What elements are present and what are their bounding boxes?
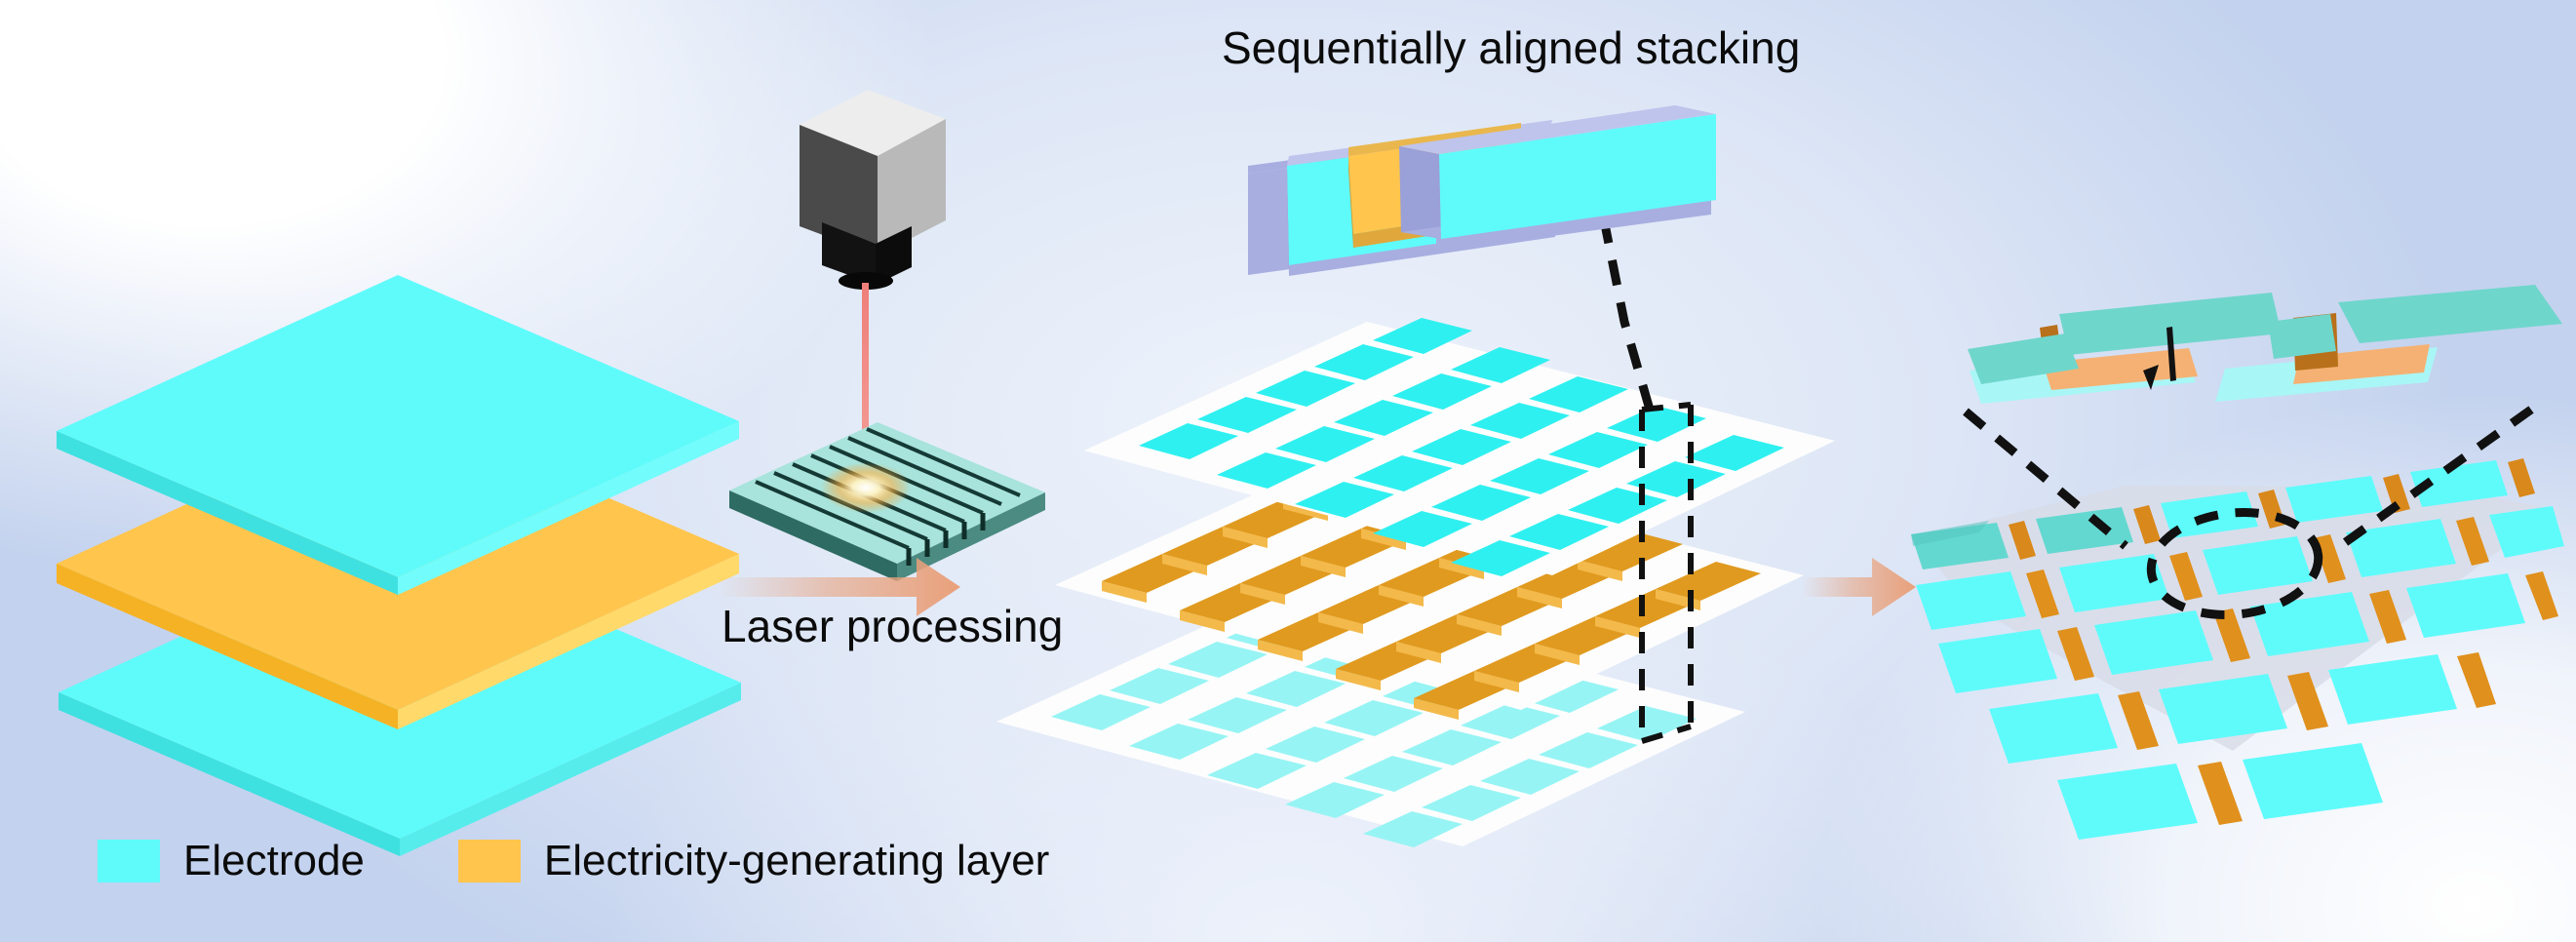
legend-label-generating-layer: Electricity-generating layer	[544, 837, 1049, 885]
process-arrow-2	[1802, 558, 1916, 616]
grooved-substrate	[729, 422, 1045, 581]
electrode-swatch	[98, 840, 160, 883]
laser-processing-label: Laser processing	[722, 600, 1063, 652]
figure-canvas: Sequentially aligned stacking Laser proc…	[0, 0, 2576, 942]
aligned-stack-detail	[1248, 105, 1716, 276]
final-device	[1911, 285, 2564, 840]
legend: Electrode Electricity-generating layer	[98, 837, 1049, 885]
schematic-artwork	[0, 0, 2576, 942]
exploded-stack	[57, 275, 741, 856]
legend-item-generating-layer: Electricity-generating layer	[458, 837, 1049, 885]
upper-electrode-plate	[1399, 105, 1716, 252]
laser-spot-glow	[821, 462, 911, 513]
stacking-title: Sequentially aligned stacking	[1222, 21, 1800, 74]
legend-item-electrode: Electrode	[98, 837, 365, 885]
device-row	[2057, 743, 2383, 840]
legend-label-electrode: Electrode	[183, 837, 365, 885]
patterned-layers	[996, 164, 1835, 847]
generating-layer-swatch	[458, 840, 521, 883]
laser-processing-station	[729, 90, 1045, 581]
laser-head-cube	[800, 90, 946, 255]
